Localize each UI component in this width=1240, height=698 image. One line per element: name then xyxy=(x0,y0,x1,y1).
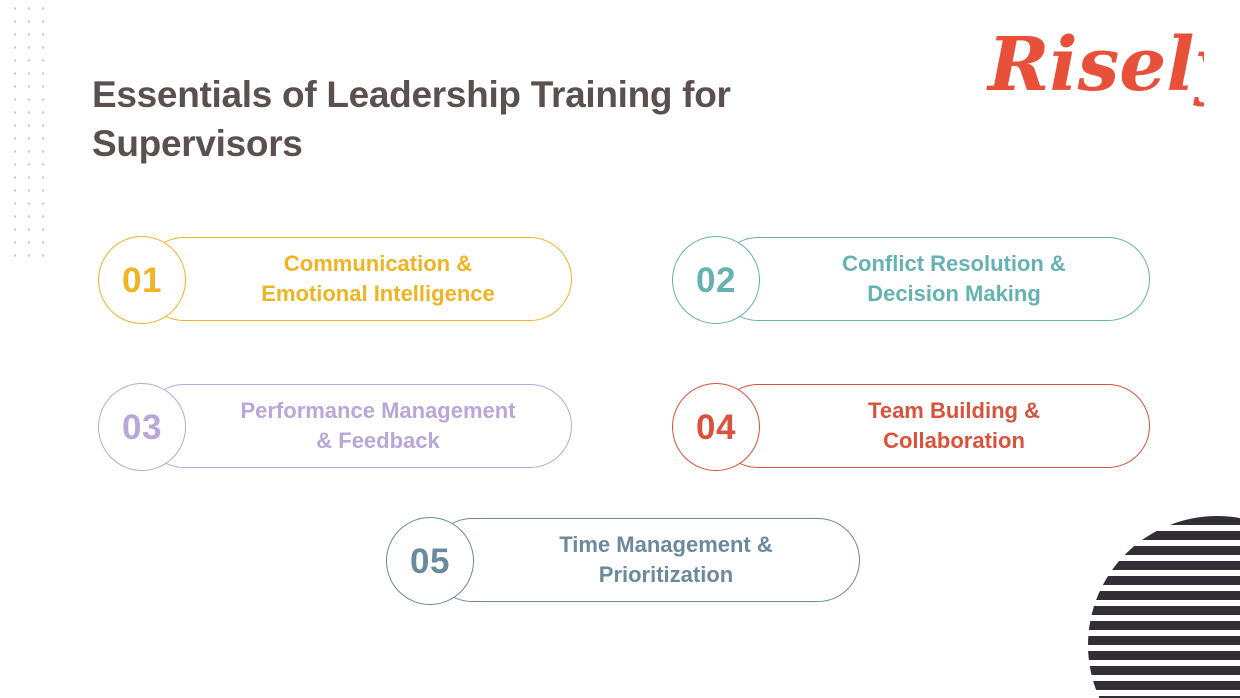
list-item-03[interactable]: Performance Management & Feedback 03 xyxy=(98,383,572,469)
list-item-05[interactable]: Time Management & Prioritization 05 xyxy=(386,517,860,603)
card-number: 03 xyxy=(122,410,162,445)
slide-canvas: Risely Essentials of Leadership Training… xyxy=(0,0,1240,698)
card-number: 04 xyxy=(696,410,736,445)
list-item-04[interactable]: Team Building & Collaboration 04 xyxy=(672,383,1150,469)
dot-grid-decoration xyxy=(8,2,48,258)
card-label: Conflict Resolution & Decision Making xyxy=(772,237,1136,321)
risely-logo: Risely xyxy=(984,26,1204,112)
card-number: 01 xyxy=(122,263,162,298)
card-label: Team Building & Collaboration xyxy=(772,384,1136,468)
logo-wordmark: Risely xyxy=(986,26,1204,108)
card-label: Performance Management & Feedback xyxy=(198,384,558,468)
striped-circle-decoration xyxy=(1088,516,1240,698)
list-item-02[interactable]: Conflict Resolution & Decision Making 02 xyxy=(672,236,1150,322)
card-number-badge: 05 xyxy=(386,517,474,605)
card-number-badge: 03 xyxy=(98,383,186,471)
card-number-badge: 04 xyxy=(672,383,760,471)
card-label: Time Management & Prioritization xyxy=(486,518,846,602)
list-item-01[interactable]: Communication & Emotional Intelligence 0… xyxy=(98,236,572,322)
card-label: Communication & Emotional Intelligence xyxy=(198,237,558,321)
card-number: 02 xyxy=(696,263,736,298)
card-number-badge: 02 xyxy=(672,236,760,324)
card-number: 05 xyxy=(410,544,450,579)
card-number-badge: 01 xyxy=(98,236,186,324)
page-title: Essentials of Leadership Training for Su… xyxy=(92,70,892,168)
